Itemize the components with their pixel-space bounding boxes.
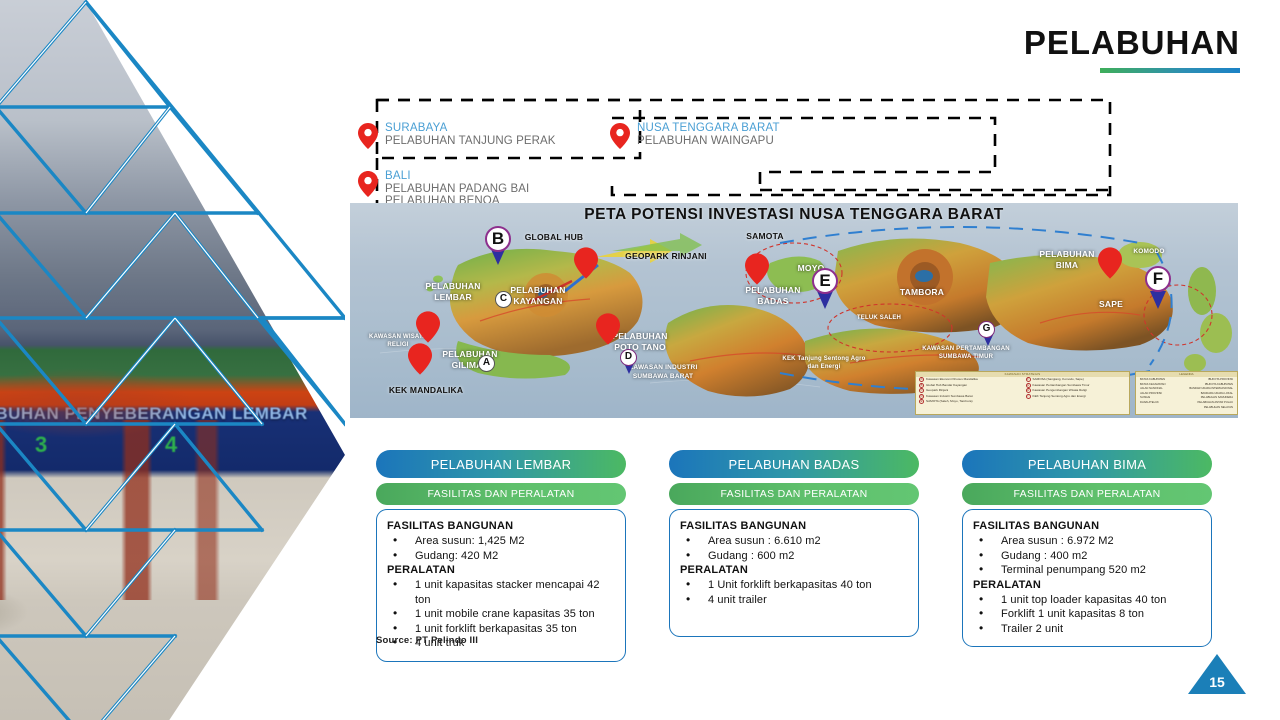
map-label-pelabuhan-badas: PELABUHAN BADAS — [738, 285, 808, 307]
map-legend-right-title: LEGENDA — [1136, 372, 1237, 377]
map-label-geopark-rinjani: GEOPARK RINJANI — [618, 251, 714, 261]
map-label-pelabuhan-lembar: PELABUHAN LEMBAR — [420, 281, 486, 303]
card-body: FASILITAS BANGUNAN Area susun : 6.610 m2… — [669, 509, 919, 637]
callout-city-name: BALI — [385, 170, 529, 183]
map-pin-badas[interactable] — [745, 253, 769, 285]
legend-key: B — [919, 383, 924, 388]
section-heading: FASILITAS BANGUNAN — [387, 519, 615, 534]
section-list: Area susun : 6.610 m2 Gudang : 600 m2 — [682, 534, 908, 563]
legend-item: ESAMOTA (Saleh, Moyo, Tambora) — [919, 399, 1020, 405]
card-title: PELABUHAN BADAS — [669, 450, 919, 478]
legend-key: I — [1026, 394, 1031, 399]
map-label-global-hub: GLOBAL HUB — [513, 232, 595, 242]
map-legend-column-left: AKawasan Ekonomi Khusus Mandalika BGloba… — [916, 372, 1023, 414]
map-badge-b[interactable]: B — [485, 226, 511, 252]
map-pin-icon — [358, 171, 378, 197]
map-label-sape: SAPE — [1090, 299, 1132, 309]
callout-port-name: PELABUHAN PADANG BAI — [385, 183, 529, 196]
map-badge-d[interactable]: D — [620, 349, 637, 366]
section-heading: PERALATAN — [973, 578, 1201, 593]
legend-text: SAMOTA (Saleh, Moyo, Tambora) — [926, 399, 972, 405]
map-badge-g[interactable]: G — [978, 321, 995, 338]
map-pin-icon — [358, 123, 378, 149]
card-subtitle: FASILITAS DAN PERALATAN — [669, 483, 919, 505]
section-list: Area susun: 1,425 M2 Gudang: 420 M2 — [389, 534, 615, 563]
card-title: PELABUHAN BIMA — [962, 450, 1212, 478]
list-item: Forklift 1 unit kapasitas 8 ton — [975, 607, 1201, 622]
list-item: 1 unit kapasitas stacker mencapai 42 ton — [389, 578, 615, 607]
list-item: Gudang: 420 M2 — [389, 549, 615, 564]
section-list: Area susun : 6.972 M2 Gudang : 400 m2 Te… — [975, 534, 1201, 578]
list-item: 1 unit top loader kapasitas 40 ton — [975, 593, 1201, 608]
map-label-tambora: TAMBORA — [888, 287, 956, 297]
map-badge-e[interactable]: E — [812, 268, 838, 294]
page-number: 15 — [1186, 674, 1248, 690]
page-title: PELABUHAN — [1024, 26, 1240, 59]
callout-pin-surabaya: SURABAYA PELABUHAN TANJUNG PERAK — [358, 122, 556, 149]
map-badge-c[interactable]: C — [495, 291, 512, 308]
map-label-teluk-saleh: TELUK SALEH — [850, 313, 908, 323]
list-item: 1 unit mobile crane kapasitas 35 ton — [389, 607, 615, 622]
callout-pin-ntb: NUSA TENGGARA BARAT PELABUHAN WAINGAPU — [610, 122, 780, 149]
port-card-bima[interactable]: PELABUHAN BIMA FASILITAS DAN PERALATAN F… — [962, 450, 1212, 647]
card-subtitle: FASILITAS DAN PERALATAN — [962, 483, 1212, 505]
list-item: 1 unit forklift berkapasitas 35 ton — [389, 622, 615, 637]
card-title: PELABUHAN LEMBAR — [376, 450, 626, 478]
legend-key: F — [1026, 377, 1031, 382]
page-title-block: PELABUHAN — [1024, 26, 1240, 73]
legend-text: KEK Tanjung Sentong Agro dan Energi — [1033, 394, 1086, 400]
legend-item: IKEK Tanjung Sentong Agro dan Energi — [1026, 394, 1127, 400]
map-title: PETA POTENSI INVESTASI NUSA TENGGARA BAR… — [350, 206, 1238, 224]
title-accent-underline — [1100, 68, 1240, 73]
legend-key: C — [919, 388, 924, 393]
section-heading: PERALATAN — [680, 563, 908, 578]
left-decorative-photo-panel: PELABUHAN PENYEBERANGAN LEMBAR 3 4 — [0, 0, 345, 720]
badge-stem-f — [1150, 291, 1166, 309]
map-legend-column-right: FSAMOSA (Sangiang, Komodo, Sape) GKawasa… — [1023, 372, 1130, 414]
investment-potential-map[interactable]: PETA POTENSI INVESTASI NUSA TENGGARA BAR… — [350, 203, 1238, 418]
legend-key: A — [919, 377, 924, 382]
source-note: Source: PT Pelindo III — [376, 635, 478, 646]
callout-port-name: PELABUHAN WAINGAPU — [637, 135, 780, 148]
section-heading: PERALATAN — [387, 563, 615, 578]
list-item: Trailer 2 unit — [975, 622, 1201, 637]
map-label-kawasan-pertambangan-sumbawa-timur: KAWASAN PERTAMBANGAN SUMBAWA TIMUR — [920, 345, 1012, 361]
map-label-kek-mandalika: KEK MANDALIKA — [378, 385, 474, 395]
section-heading: FASILITAS BANGUNAN — [680, 519, 908, 534]
list-item: Area susun : 6.610 m2 — [682, 534, 908, 549]
callout-city-name: NUSA TENGGARA BARAT — [637, 122, 780, 135]
legend-symbol-right: PELABUHAN NELAYAN — [1204, 406, 1233, 411]
map-label-pelabuhan-kayangan: PELABUHAN KAYANGAN — [502, 285, 574, 307]
map-pin-poto-tano[interactable] — [596, 313, 620, 345]
map-label-samota: SAMOTA — [735, 231, 795, 241]
list-item: 1 Unit forklift berkapasitas 40 ton — [682, 578, 908, 593]
callout-pin-bali: BALI PELABUHAN PADANG BAI PELABUHAN BENO… — [358, 170, 529, 208]
port-card-lembar[interactable]: PELABUHAN LEMBAR FASILITAS DAN PERALATAN… — [376, 450, 626, 662]
list-item: 4 unit trailer — [682, 593, 908, 608]
map-badge-f[interactable]: F — [1145, 266, 1171, 292]
map-pin-icon — [610, 123, 630, 149]
legend-key: E — [919, 399, 924, 404]
list-item: Gudang : 400 m2 — [975, 549, 1201, 564]
legend-key: H — [1026, 388, 1031, 393]
legend-symbol-left: DANAU/TELUK — [1140, 401, 1159, 406]
map-pin-kayangan[interactable] — [574, 247, 598, 279]
map-label-pelabuhan-bima: PELABUHAN BIMA — [1030, 249, 1104, 271]
list-item: Terminal penumpang 520 m2 — [975, 563, 1201, 578]
section-heading: FASILITAS BANGUNAN — [973, 519, 1201, 534]
map-pin-bima[interactable] — [1098, 247, 1122, 279]
port-card-badas[interactable]: PELABUHAN BADAS FASILITAS DAN PERALATAN … — [669, 450, 919, 637]
legend-key: G — [1026, 383, 1031, 388]
map-label-komodo: KOMODO — [1125, 247, 1173, 257]
map-pin-lembar[interactable] — [416, 311, 440, 343]
card-body: FASILITAS BANGUNAN Area susun : 6.972 M2… — [962, 509, 1212, 647]
legend-symbol-row: PELABUHAN NELAYAN — [1140, 406, 1233, 411]
card-subtitle: FASILITAS DAN PERALATAN — [376, 483, 626, 505]
triangle-lattice-mask — [0, 0, 345, 720]
legend-key: D — [919, 394, 924, 399]
map-pin-gilimas[interactable] — [408, 343, 432, 375]
list-item: Area susun: 1,425 M2 — [389, 534, 615, 549]
map-legend-symbols: LEGENDA BATAS KABUPATENIBUKOTA PROVINSI … — [1135, 371, 1238, 415]
list-item: Area susun : 6.972 M2 — [975, 534, 1201, 549]
list-item: Gudang : 600 m2 — [682, 549, 908, 564]
map-badge-a[interactable]: A — [478, 355, 495, 372]
map-label-kek-tanjung-sentong: KEK Tanjung Sentong Agro dan Energi — [780, 355, 868, 371]
page-number-badge: 15 — [1186, 650, 1248, 698]
section-list: 1 unit top loader kapasitas 40 ton Forkl… — [975, 593, 1201, 637]
map-legend-title: KAWASAN STRATEGIS — [916, 372, 1129, 377]
map-legend-strategic-areas: KAWASAN STRATEGIS AKawasan Ekonomi Khusu… — [915, 371, 1130, 415]
section-list: 1 Unit forklift berkapasitas 40 ton 4 un… — [682, 578, 908, 607]
callout-city-name: SURABAYA — [385, 122, 556, 135]
callout-port-name: PELABUHAN TANJUNG PERAK — [385, 135, 556, 148]
